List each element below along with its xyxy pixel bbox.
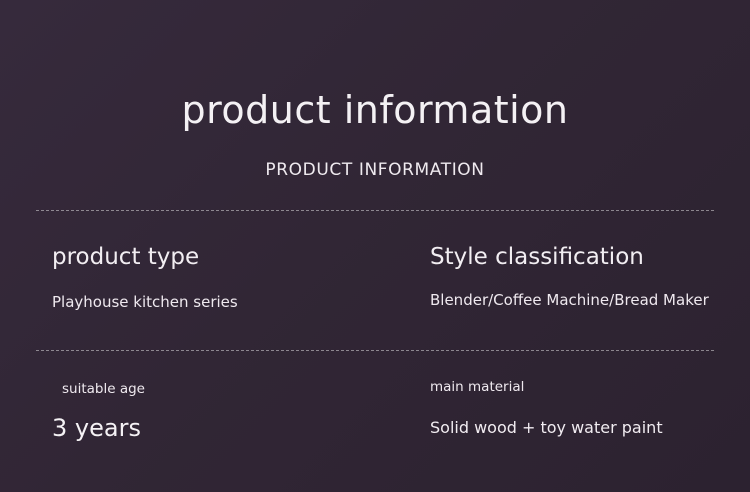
- spec-label-style-classification: Style classification: [430, 244, 644, 270]
- divider-top: [36, 210, 714, 211]
- spec-label-suitable-age: suitable age: [62, 381, 145, 397]
- divider-middle: [36, 350, 714, 351]
- spec-label-main-material: main material: [430, 379, 524, 395]
- spec-value-main-material: Solid wood + toy water paint: [430, 418, 663, 437]
- product-information-panel: product information PRODUCT INFORMATION …: [0, 0, 750, 492]
- spec-label-product-type: product type: [52, 244, 199, 270]
- spec-value-style-classification: Blender/Coffee Machine/Bread Maker: [430, 291, 709, 309]
- spec-value-suitable-age: 3 years: [52, 414, 141, 442]
- page-title: product information: [0, 88, 750, 132]
- page-subtitle: PRODUCT INFORMATION: [0, 160, 750, 180]
- spec-value-product-type: Playhouse kitchen series: [52, 293, 238, 311]
